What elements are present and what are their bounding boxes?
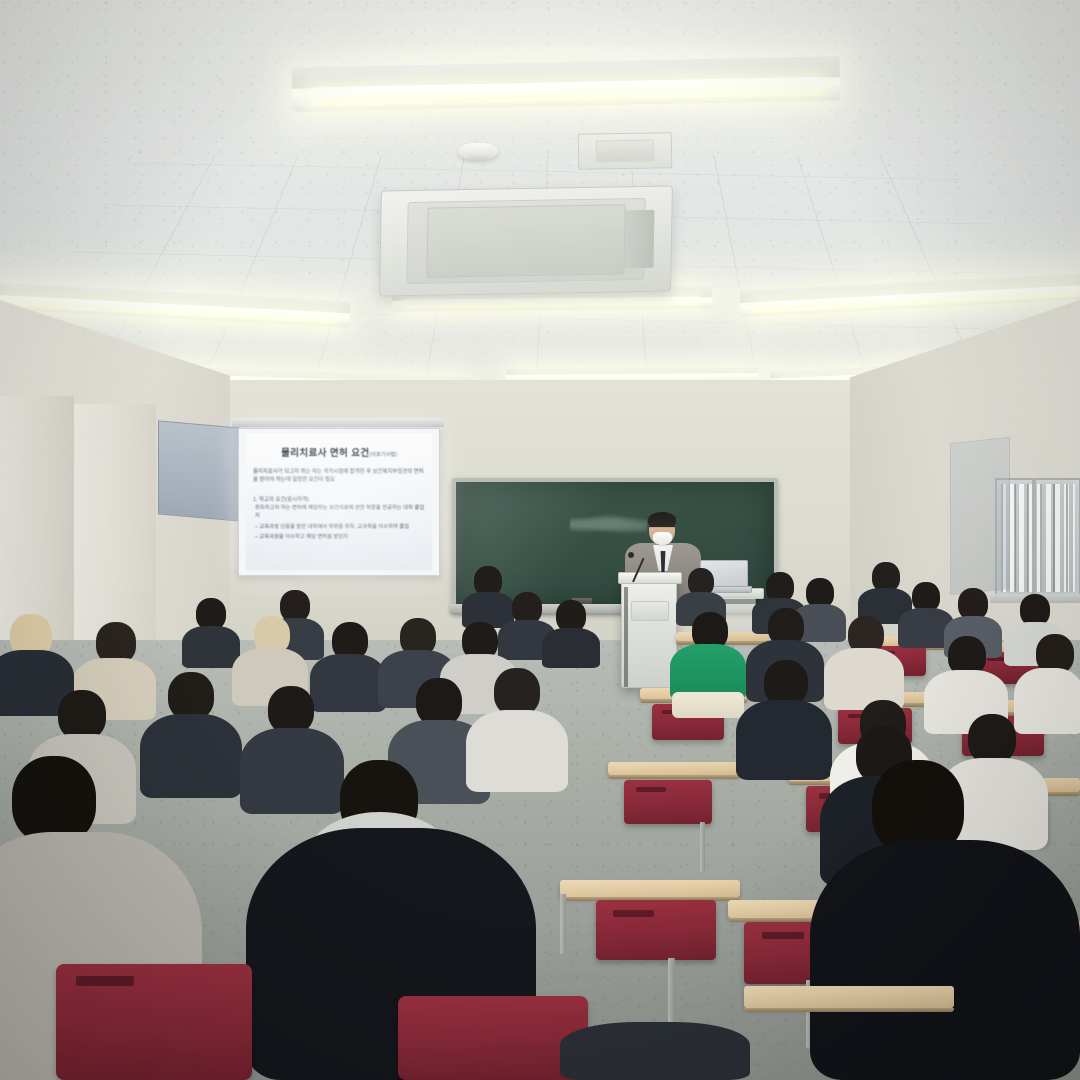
window-grille — [1001, 484, 1075, 592]
student-head — [168, 672, 214, 720]
student-body — [240, 728, 344, 814]
podium — [621, 576, 677, 688]
slide-paragraph: 물리치료사가 되고자 하는 자는 국가시험에 합격한 후 보건복지부장관의 면허… — [253, 468, 425, 485]
projection-screen: 물리치료사 면허 요건(의료기사법) 물리치료사가 되고자 하는 자는 국가시험… — [238, 428, 440, 576]
student-body — [140, 714, 242, 798]
slide-content: 물리치료사 면허 요건(의료기사법) 물리치료사가 되고자 하는 자는 국가시험… — [246, 434, 432, 570]
student-body — [1014, 668, 1080, 734]
screen-roller — [232, 418, 444, 427]
student-body — [310, 654, 386, 712]
student-body — [466, 710, 568, 792]
student-head — [494, 668, 540, 716]
face-mask-icon — [653, 532, 672, 545]
microphone-icon — [628, 552, 634, 558]
ceiling-vent — [578, 132, 673, 170]
student-body — [542, 628, 600, 668]
student-body — [182, 626, 240, 668]
slide-section-heading: 1. 학교의 요건(응시자격) — [253, 495, 425, 503]
student-body — [810, 840, 1080, 1080]
chalk-writing — [570, 513, 646, 536]
slide-section-note: 취득하고자 하는 면허에 해당하는 보건의료에 관한 학문을 전공하는 대학 졸… — [255, 505, 425, 521]
student-head — [12, 756, 96, 844]
wall-panel — [950, 437, 1010, 595]
ac-unit — [379, 185, 673, 296]
wall-panel — [158, 420, 240, 521]
slide-bullet: – 교육과정 인증을 받은 대학에서 학위를 취득, 교과목을 이수하여 졸업 — [255, 524, 425, 532]
chair — [56, 964, 252, 1080]
smoke-detector-icon — [458, 143, 498, 160]
presenter-hair — [648, 512, 676, 527]
slide-title: 물리치료사 면허 요건(의료기사법) — [246, 445, 432, 459]
student-head — [416, 678, 462, 726]
slide-bullet: – 교육과정을 이수하고 해당 면허를 받던지 — [255, 534, 425, 542]
student-body — [560, 1022, 750, 1080]
student-head — [968, 714, 1016, 764]
student-head — [58, 690, 106, 740]
chair-cushion — [672, 692, 744, 718]
student-head — [268, 686, 314, 734]
student-body — [736, 700, 832, 780]
window-mullion — [1032, 478, 1036, 594]
lecture-hall-photo: 물리치료사 면허 요건(의료기사법) 물리치료사가 되고자 하는 자는 국가시험… — [0, 0, 1080, 1080]
